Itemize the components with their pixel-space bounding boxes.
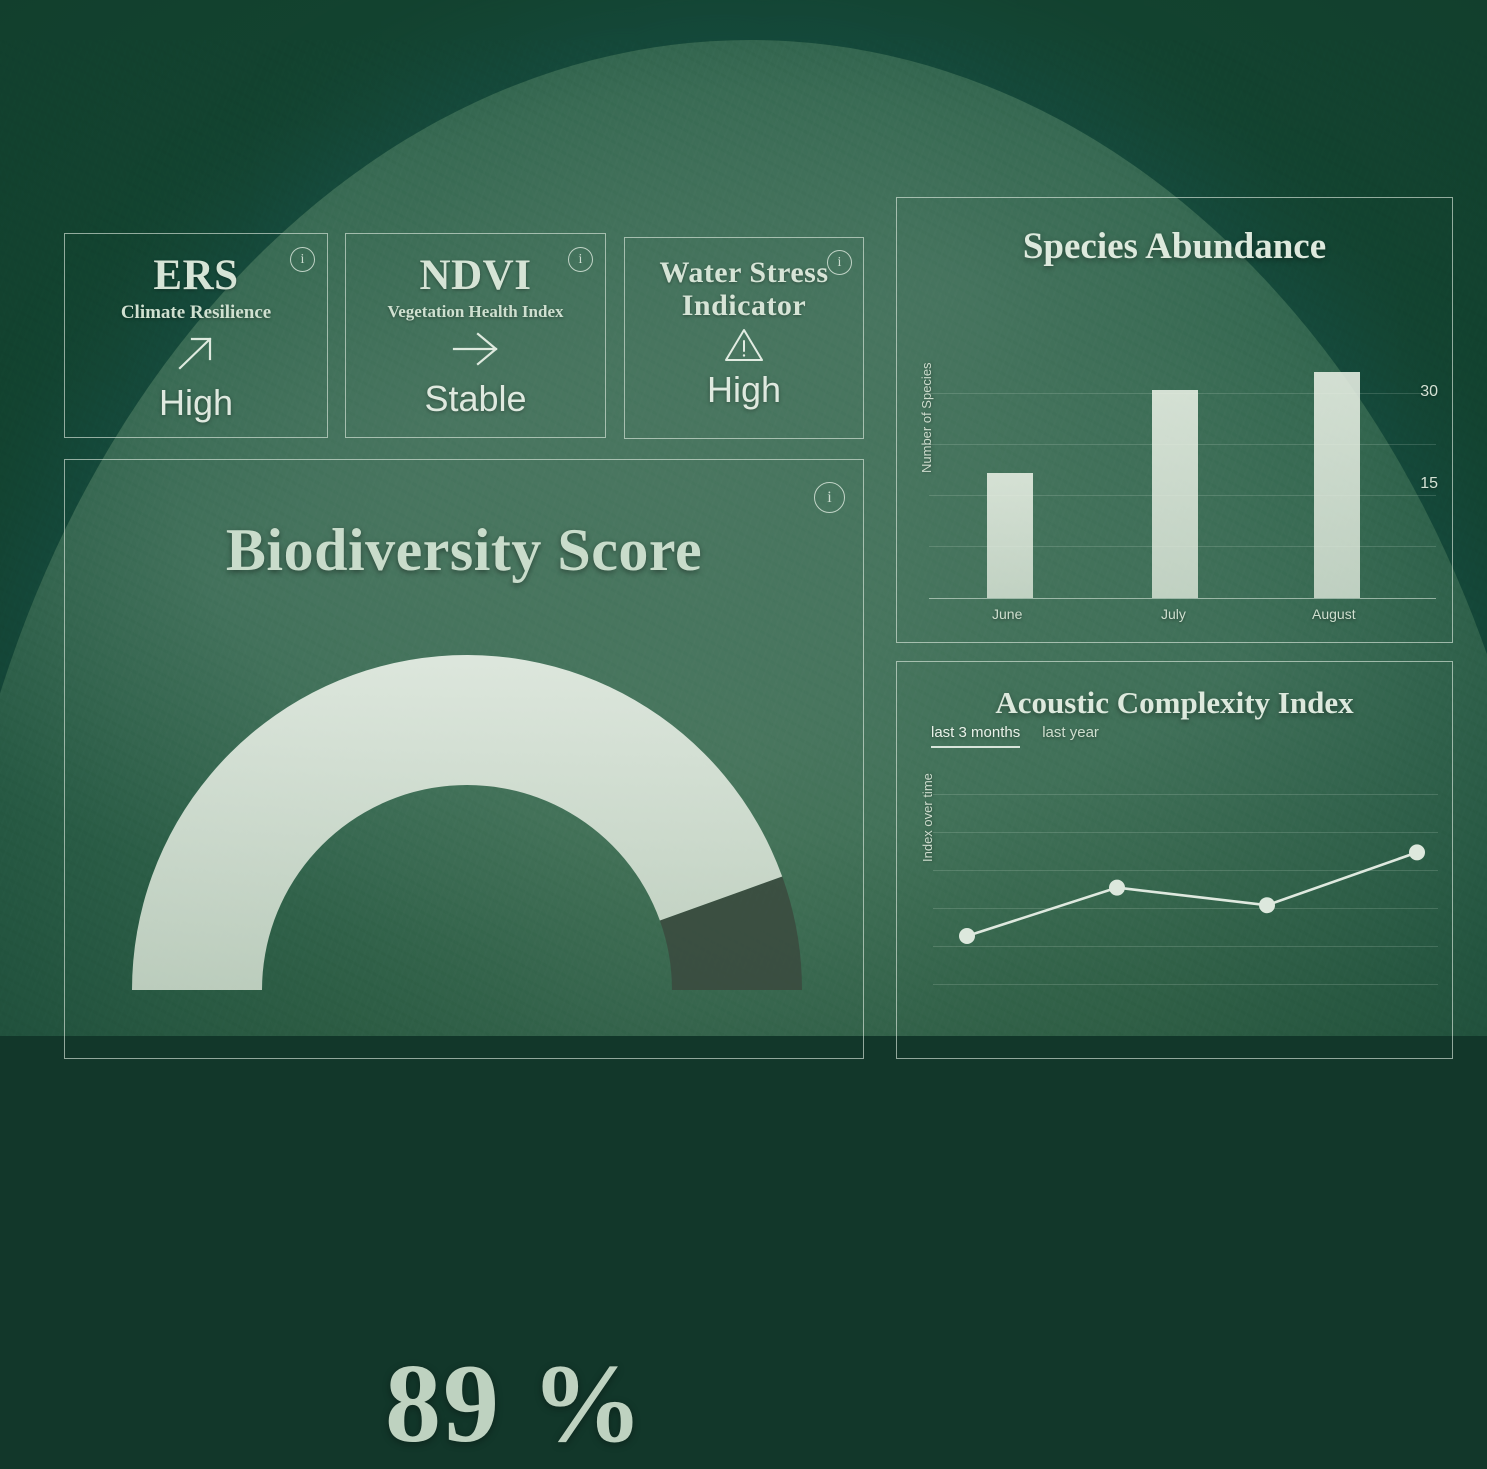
acoustic-complexity-panel: Acoustic Complexity Index last 3 months … bbox=[896, 661, 1453, 1059]
metric-card-water-stress[interactable]: Water Stress Indicator High i bbox=[624, 237, 864, 439]
x-axis-line bbox=[929, 598, 1436, 599]
info-icon-water-stress[interactable]: i bbox=[827, 250, 852, 275]
warning-triangle-icon bbox=[721, 321, 767, 369]
bar-june[interactable] bbox=[987, 473, 1033, 598]
arrow-up-right-icon bbox=[172, 324, 220, 378]
xtick-june: June bbox=[992, 606, 1022, 622]
metric-card-ers-value: High bbox=[159, 382, 233, 424]
metric-card-water-stress-title-line2: Indicator bbox=[682, 291, 807, 322]
biodiversity-score-title: Biodiversity Score bbox=[65, 516, 863, 585]
bar-august[interactable] bbox=[1314, 372, 1360, 598]
xtick-august: August bbox=[1312, 606, 1356, 622]
xtick-july: July bbox=[1161, 606, 1186, 622]
species-abundance-ylabel: Number of Species bbox=[919, 362, 934, 473]
data-point-1[interactable] bbox=[1109, 880, 1125, 896]
info-icon-ers[interactable]: i bbox=[290, 247, 315, 272]
info-icon-biodiversity[interactable]: i bbox=[814, 482, 845, 513]
metric-card-ndvi-value: Stable bbox=[424, 378, 526, 420]
ytick-15: 15 bbox=[1420, 475, 1438, 493]
ytick-30: 30 bbox=[1420, 383, 1438, 401]
metric-card-ers[interactable]: ERS Climate Resilience High i bbox=[64, 233, 328, 438]
biodiversity-gauge bbox=[65, 600, 863, 1120]
metric-card-ndvi[interactable]: NDVI Vegetation Health Index Stable i bbox=[345, 233, 606, 438]
biodiversity-percent-value: 89 % bbox=[385, 1340, 645, 1469]
metric-card-ndvi-title: NDVI bbox=[420, 254, 532, 298]
biodiversity-score-panel: Biodiversity Score i 89 % bbox=[64, 459, 864, 1059]
metric-card-water-stress-value: High bbox=[707, 369, 781, 411]
data-point-0[interactable] bbox=[959, 928, 975, 944]
acoustic-complexity-line-chart bbox=[897, 662, 1454, 1060]
info-icon-ndvi[interactable]: i bbox=[568, 247, 593, 272]
arrow-right-icon bbox=[446, 322, 506, 376]
metric-card-water-stress-title-line1: Water Stress bbox=[659, 258, 828, 289]
data-point-2[interactable] bbox=[1259, 897, 1275, 913]
metric-card-ndvi-subtitle: Vegetation Health Index bbox=[388, 302, 564, 322]
bar-july[interactable] bbox=[1152, 390, 1198, 598]
species-abundance-panel: Species Abundance Number of Species 30 1… bbox=[896, 197, 1453, 643]
metric-card-ers-title: ERS bbox=[153, 254, 238, 298]
data-point-3[interactable] bbox=[1409, 844, 1425, 860]
species-abundance-title: Species Abundance bbox=[897, 225, 1452, 268]
metric-card-ers-subtitle: Climate Resilience bbox=[121, 302, 271, 324]
